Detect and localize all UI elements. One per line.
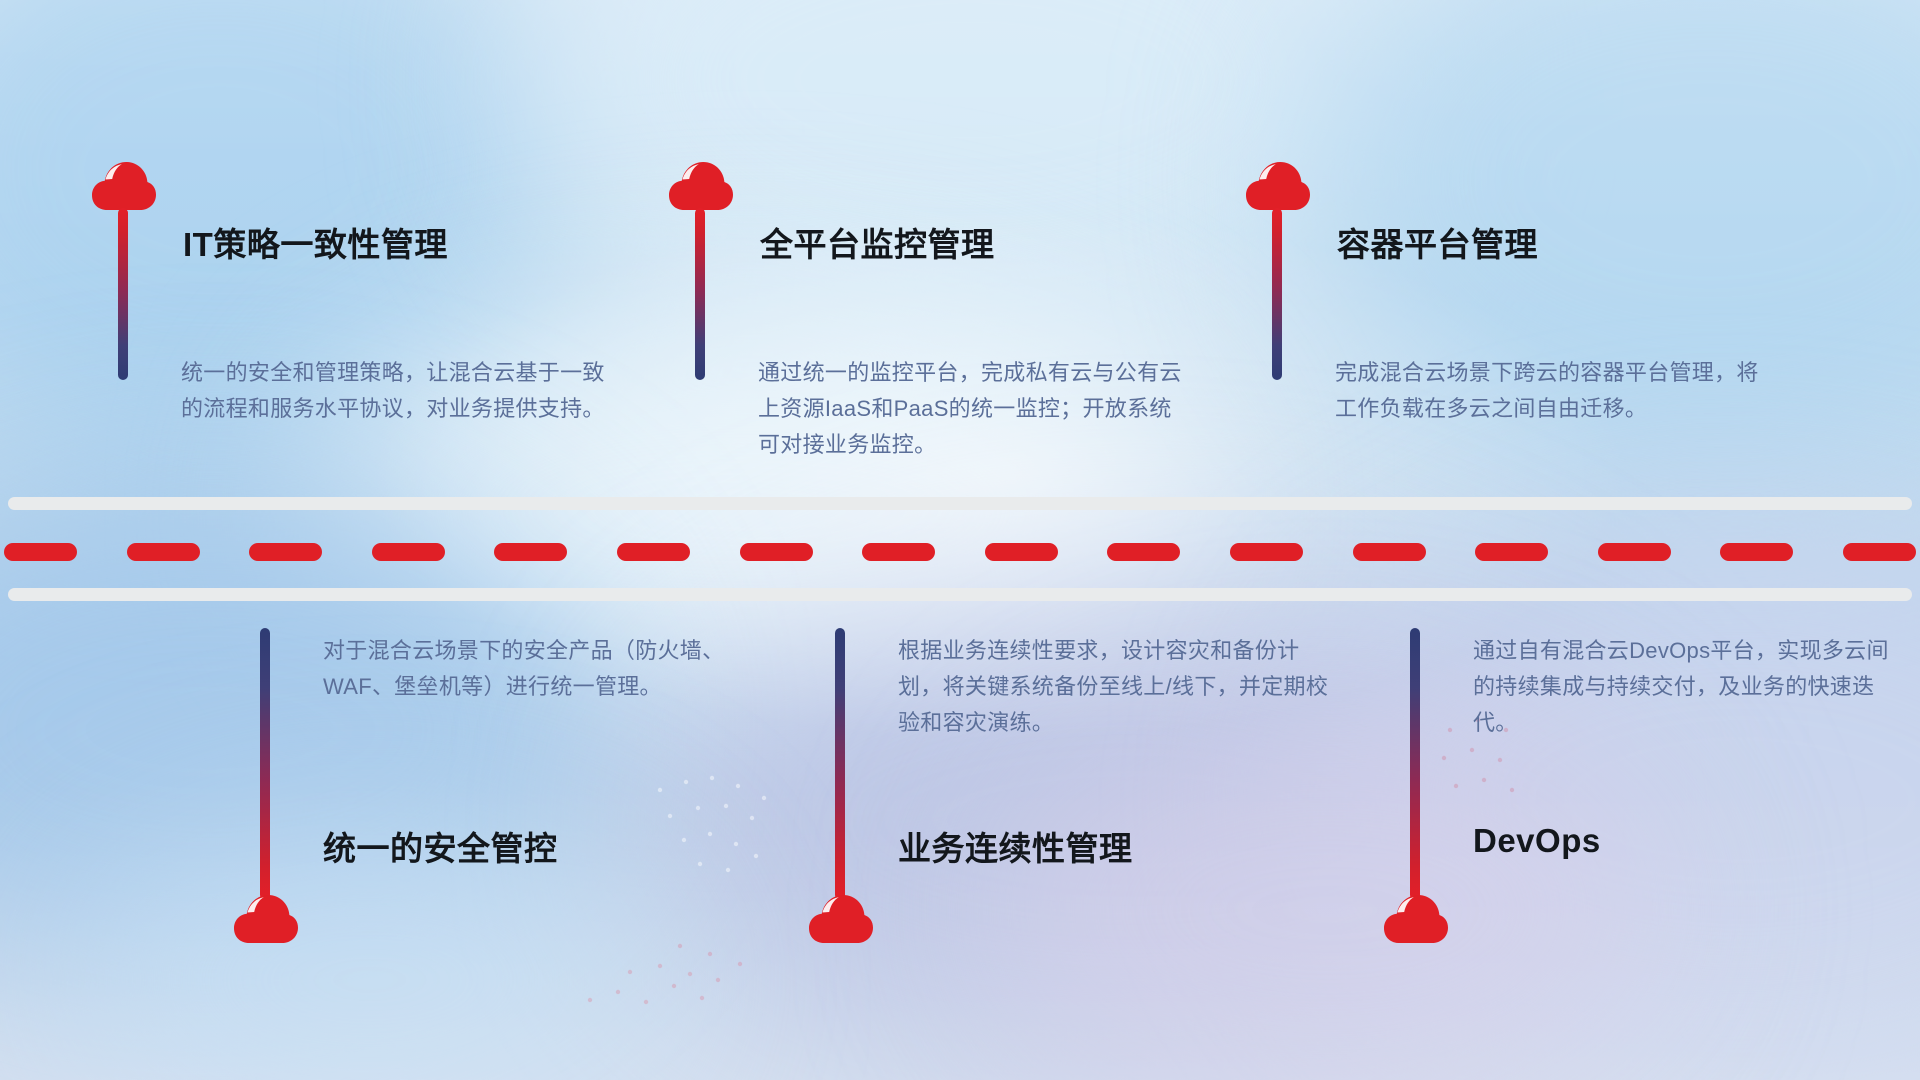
top-heading-1: IT策略一致性管理 — [183, 218, 448, 266]
bottom-description-1: 对于混合云场景下的安全产品（防火墙、WAF、堡垒机等）进行统一管理。 — [323, 633, 755, 705]
divider-dash — [1353, 543, 1426, 561]
cloud-icon — [1383, 893, 1449, 945]
divider-dash — [985, 543, 1058, 561]
divider-dash — [127, 543, 200, 561]
divider-rail-top — [8, 497, 1912, 510]
cloud-icon — [91, 160, 157, 212]
timeline-bar-5 — [835, 628, 845, 900]
cloud-icon — [1245, 160, 1311, 212]
bottom-description-2: 根据业务连续性要求，设计容灾和备份计划，将关键系统备份至线上/线下，并定期校验和… — [898, 633, 1330, 741]
divider-rail-bottom — [8, 588, 1912, 601]
bottom-heading-2: 业务连续性管理 — [898, 822, 1133, 870]
timeline-bar-1 — [118, 208, 128, 380]
timeline-bar-3 — [1272, 208, 1282, 380]
timeline-bar-4 — [260, 628, 270, 900]
divider-dash — [494, 543, 567, 561]
divider-dash — [372, 543, 445, 561]
top-description-2: 通过统一的监控平台，完成私有云与公有云上资源IaaS和PaaS的统一监控；开放系… — [758, 355, 1190, 463]
divider-dash — [1720, 543, 1793, 561]
bottom-heading-1: 统一的安全管控 — [323, 822, 558, 870]
infographic-canvas: IT策略一致性管理 统一的安全和管理策略，让混合云基于一致的流程和服务水平协议，… — [0, 0, 1920, 1080]
timeline-bar-2 — [695, 208, 705, 380]
divider-dash — [1598, 543, 1671, 561]
divider-dash — [1843, 543, 1916, 561]
top-heading-2: 全平台监控管理 — [760, 218, 995, 266]
cloud-icon — [808, 893, 874, 945]
bottom-heading-3: DevOps — [1473, 822, 1601, 860]
top-description-1: 统一的安全和管理策略，让混合云基于一致的流程和服务水平协议，对业务提供支持。 — [181, 355, 613, 427]
cloud-icon — [668, 160, 734, 212]
divider-dash — [862, 543, 935, 561]
divider-dash — [617, 543, 690, 561]
divider-dash — [1107, 543, 1180, 561]
divider-dash-track — [0, 543, 1920, 561]
divider-dash — [1475, 543, 1548, 561]
divider-dash — [4, 543, 77, 561]
top-heading-3: 容器平台管理 — [1337, 218, 1538, 266]
top-description-3: 完成混合云场景下跨云的容器平台管理，将工作负载在多云之间自由迁移。 — [1335, 355, 1767, 427]
timeline-bar-6 — [1410, 628, 1420, 900]
divider-dash — [249, 543, 322, 561]
divider-dash — [740, 543, 813, 561]
cloud-icon — [233, 893, 299, 945]
bottom-description-3: 通过自有混合云DevOps平台，实现多云间的持续集成与持续交付，及业务的快速迭代… — [1473, 633, 1905, 741]
divider-dash — [1230, 543, 1303, 561]
